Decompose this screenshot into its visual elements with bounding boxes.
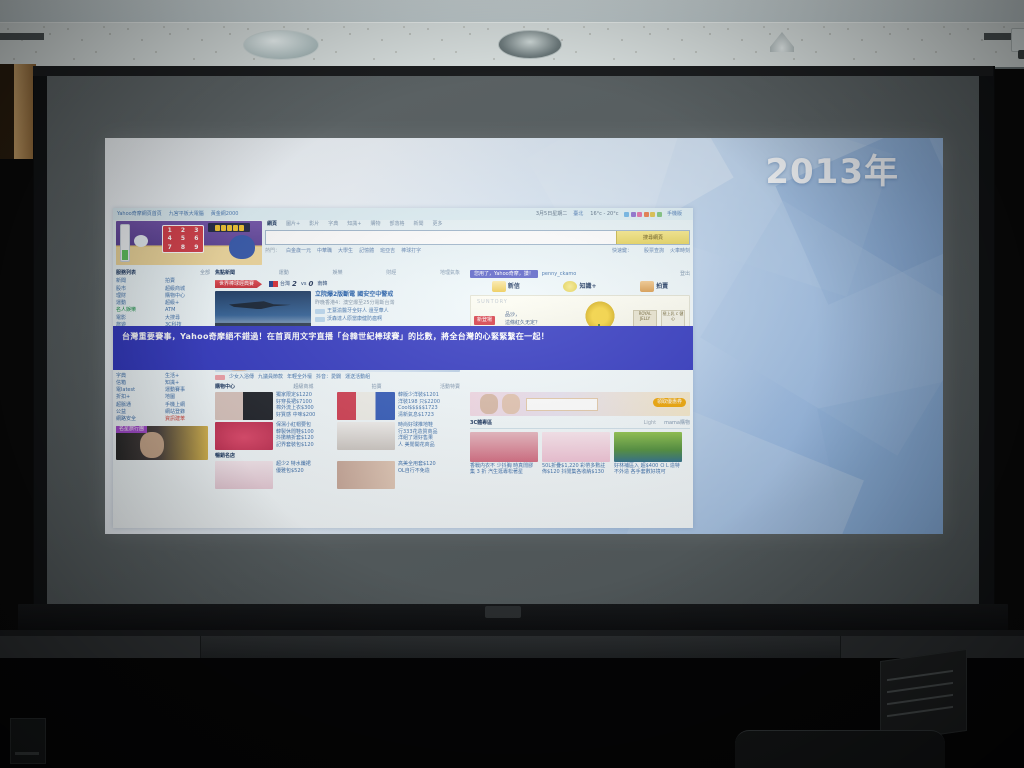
chair bbox=[735, 730, 945, 768]
tab-web[interactable]: 網頁 bbox=[267, 221, 277, 227]
tab-more[interactable]: 更多 bbox=[433, 221, 443, 227]
sidebar-item[interactable]: 地圖 bbox=[165, 394, 210, 400]
shop-cell[interactable] bbox=[215, 392, 273, 420]
news-list-item[interactable]: 王薏渝醫牙全好人 還至華人 bbox=[315, 308, 464, 314]
shopping-grid-row1: 獨家限定$1220 好穿長裙$7100 棉外流上衣$300 好質感 中味$200 bbox=[215, 392, 464, 420]
yahoo-sidebar: 服務列表 全部 新聞 拍賣 股市 超級商城 理財 購物中心 運動 超級+ 名人娛… bbox=[113, 268, 213, 528]
coupon-promo-banner[interactable]: 領取優惠券 bbox=[470, 392, 690, 416]
news-badge-icon bbox=[315, 317, 325, 322]
shop-cell[interactable] bbox=[337, 422, 395, 450]
user-name[interactable]: penny_ckamo bbox=[542, 271, 577, 277]
ad-link[interactable]: 少女入浴傳 bbox=[229, 374, 254, 380]
sidebar-item[interactable]: 新聞 bbox=[116, 278, 161, 284]
sidebar-item[interactable]: 電latest bbox=[116, 387, 161, 393]
welcome-pill: 您用了，Yahoo奇摩，讚！ bbox=[470, 270, 538, 278]
projector-screen-handle[interactable] bbox=[485, 606, 521, 618]
sidebar-item[interactable]: 折扣+ bbox=[116, 394, 161, 400]
sidebar-item[interactable]: 股市 bbox=[116, 286, 161, 292]
sidebar-item[interactable]: 知識+ bbox=[165, 380, 210, 386]
ad-copy: 品沙， 這條紅久无定？ bbox=[505, 312, 540, 327]
hot-item[interactable]: 中華職 bbox=[317, 248, 332, 254]
doodle-number-grid: 123456789 bbox=[162, 225, 204, 253]
user-greeting-row: 您用了，Yahoo奇摩，讚！ penny_ckamo 登出 bbox=[470, 270, 690, 278]
product-caption[interactable]: 保濕小紅帽要包 韓製休閒鞋$100 抖擻精折套$120 記界套裝包$120 bbox=[276, 422, 334, 449]
desk-object bbox=[10, 718, 46, 764]
hot-item[interactable]: 大學生 bbox=[338, 248, 353, 254]
score-away-team: 南韓 bbox=[317, 281, 327, 287]
product-image bbox=[337, 422, 395, 450]
topbar-link-gold[interactable]: 黃金網2000 bbox=[211, 211, 239, 217]
service-icon-row: 新信 知識+ 拍賣 bbox=[470, 281, 690, 292]
sidebar-header: 服務列表 全部 bbox=[116, 270, 210, 276]
sidebar-promo-tag: 名星旅行團 bbox=[116, 426, 147, 432]
shopping-tab-super[interactable]: 超級商城 bbox=[293, 384, 313, 390]
hot-item[interactable]: 棒球打字 bbox=[401, 248, 421, 254]
product-image bbox=[215, 422, 273, 450]
tab-video[interactable]: 影片 bbox=[309, 221, 319, 227]
shop-cell: 高美全用套$120 OL自行不免造 bbox=[398, 461, 456, 489]
yahoo-main-column: 焦點新聞 運動 娛樂 財經 地理氣象 世界棒球經典賽 台灣 2 vs 0 南韓 bbox=[213, 268, 468, 528]
papers-stack bbox=[880, 649, 967, 743]
service-label: 新信 bbox=[508, 283, 520, 291]
ceiling-light-icon bbox=[243, 30, 319, 60]
product-caption[interactable]: 高美全用套$120 OL自行不免造 bbox=[398, 461, 456, 475]
tab-knowledge[interactable]: 知識+ bbox=[347, 221, 361, 227]
right-section-link[interactable]: mama購物 bbox=[664, 420, 690, 426]
shopping-tab-auction[interactable]: 拍賣 bbox=[372, 384, 382, 390]
service-knowledge[interactable]: 知識+ bbox=[563, 281, 596, 292]
yahoo-right-column: 您用了，Yahoo奇摩，讚！ penny_ckamo 登出 新信 知識+ bbox=[468, 268, 693, 528]
baseball-score-bar[interactable]: 世界棒球經典賽 台灣 2 vs 0 南韓 bbox=[215, 279, 464, 289]
product-caption: 香戰内衣不 少抖胸 時真閒膠集 3 折 汽生逛專松著星 bbox=[470, 463, 538, 477]
ad-link[interactable]: 運送活動組 bbox=[345, 374, 370, 380]
knowledge-icon bbox=[563, 281, 577, 292]
mail-icon bbox=[492, 281, 506, 292]
tab-dictionary[interactable]: 字典 bbox=[328, 221, 338, 227]
score-home-team: 台灣 bbox=[280, 281, 290, 287]
coupon-tag[interactable]: 領取優惠券 bbox=[653, 398, 686, 406]
shopping-tab-deals[interactable]: 活動特賣 bbox=[440, 384, 460, 390]
tab-shopping[interactable]: 購物 bbox=[370, 221, 380, 227]
score-away-value: 0 bbox=[308, 280, 313, 289]
sidebar-item[interactable]: 電影 bbox=[116, 315, 161, 321]
sidebar-item[interactable]: 公益 bbox=[116, 409, 161, 415]
quick-item[interactable]: 火車時刻 bbox=[670, 248, 690, 254]
ad-links-row: 少女入浴傳 九議員節款 年輕全外壇 抖音：愛闢 運送活動組 bbox=[215, 374, 464, 380]
product-caption[interactable]: 時尚好球推地鞋 行333花造質商品 洋組了運好售果 人 美閒開花商品 bbox=[398, 422, 456, 449]
product-image bbox=[542, 432, 610, 462]
product-image bbox=[337, 461, 395, 489]
shop-cell: 時尚好球推地鞋 行333花造質商品 洋組了運好售果 人 美閒開花商品 bbox=[398, 422, 456, 450]
projected-slide: 2013年 Yahoo奇摩網頁首頁 九宮平板大電腦 黃金網2000 3月5日星期… bbox=[105, 138, 943, 534]
shop-cell[interactable] bbox=[337, 392, 395, 420]
sidebar-item[interactable]: 網路安全 bbox=[116, 416, 161, 422]
shop-cell[interactable] bbox=[215, 422, 273, 450]
shopping-section2-title: 暢銷名店 bbox=[215, 453, 464, 459]
taiwan-flag-icon bbox=[269, 281, 278, 287]
doodle-mascot bbox=[134, 235, 148, 247]
sidebar-item[interactable]: 理財 bbox=[116, 293, 161, 299]
product-card[interactable]: 香戰内衣不 少抖胸 時真閒膠集 3 折 汽生逛專松著星 bbox=[470, 432, 538, 477]
news-headline[interactable]: 立院爆2版斷電 國安空中警戒 bbox=[315, 291, 464, 299]
ad-badge-icon bbox=[215, 375, 225, 380]
quick-label: 快速鍵： bbox=[612, 248, 632, 254]
shopping-tab-mall[interactable]: 購物中心 bbox=[215, 384, 235, 390]
topbar-link-tablet[interactable]: 九宮平板大電腦 bbox=[169, 211, 204, 217]
ceiling bbox=[0, 0, 1024, 66]
news-list-item[interactable]: 沃森達人原當康健防瘟啊 bbox=[315, 316, 464, 322]
ad-new-tag: 新登場 bbox=[474, 316, 495, 324]
hot-item[interactable]: 白金歲一元 bbox=[286, 248, 311, 254]
product-image bbox=[337, 392, 395, 420]
topbar-date: 3月5日星期二 bbox=[536, 211, 567, 217]
sidebar-item[interactable]: 超脈通 bbox=[116, 402, 161, 408]
tab-news[interactable]: 新聞 bbox=[413, 221, 423, 227]
sidebar-item[interactable]: ATM bbox=[165, 307, 210, 313]
topbar-link-mobile[interactable]: 手機版 bbox=[667, 211, 682, 217]
right-product-cards: 香戰内衣不 少抖胸 時真閒膠集 3 折 汽生逛專松著星 50L折疊$1,220 … bbox=[470, 432, 690, 477]
search-vertical-tabs: 網頁 圖片+ 影片 字典 知識+ 購物 部落格 新聞 更多 bbox=[265, 221, 690, 227]
sidebar-item[interactable]: 大搜尋 bbox=[165, 315, 210, 321]
search-hot-keywords: 熱門： 白金歲一元 中華職 大學生 記憶體 班亞吉 棒球打字 快速鍵： 股票查詢… bbox=[265, 248, 690, 254]
product-image bbox=[215, 392, 273, 420]
service-label: 拍賣 bbox=[656, 283, 668, 291]
shop-cell: 超少2 特水纖裙 優雅包$520 bbox=[276, 461, 334, 489]
sidebar-item[interactable]: 拍賣 bbox=[165, 278, 210, 284]
sidebar-item[interactable]: 信箱 bbox=[116, 380, 161, 386]
sidebar-item[interactable]: 生活+ bbox=[165, 373, 210, 379]
sidebar-item[interactable]: 手機上網 bbox=[165, 402, 210, 408]
wall-edge-dark bbox=[0, 64, 14, 159]
service-mail[interactable]: 新信 bbox=[492, 281, 520, 292]
auction-icon bbox=[640, 281, 654, 292]
news-tab-finance[interactable]: 財經 bbox=[386, 270, 396, 276]
tab-blog[interactable]: 部落格 bbox=[389, 221, 404, 227]
news-badge-icon bbox=[315, 309, 325, 314]
airplane-icon bbox=[229, 301, 291, 309]
score-ribbon-label: 世界棒球經典賽 bbox=[215, 280, 262, 288]
yahoo-search-module: 網頁 圖片+ 影片 字典 知識+ 購物 部落格 新聞 更多 搜尋網頁 熱門： 白… bbox=[265, 221, 690, 265]
product-card[interactable]: 好林補區入 超$400 ＯＬ造特不外造 各手套數好境可 bbox=[614, 432, 682, 477]
promo-portrait-1 bbox=[480, 394, 498, 414]
ad-link[interactable]: 九議員節款 bbox=[258, 374, 283, 380]
camera-body bbox=[1011, 28, 1024, 52]
search-button[interactable]: 搜尋網頁 bbox=[616, 231, 689, 244]
camera-lens bbox=[1018, 50, 1024, 59]
sidebar-item[interactable]: 資訊建苯 bbox=[165, 416, 210, 422]
whiteboard-segment-left bbox=[0, 636, 201, 658]
news-tab-sports[interactable]: 運動 bbox=[279, 270, 289, 276]
logout-link[interactable]: 登出 bbox=[680, 271, 690, 277]
search-field-wrap: 搜尋網頁 bbox=[265, 230, 690, 245]
shopping-grid-row3: 超少2 特水纖裙 優雅包$520 高美全用套$120 OL自行不免造 bbox=[215, 461, 464, 489]
news-tab-focus[interactable]: 焦點新聞 bbox=[215, 270, 235, 276]
tab-image[interactable]: 圖片+ bbox=[286, 221, 300, 227]
room-photo: 2013年 Yahoo奇摩網頁首頁 九宮平板大電腦 黃金網2000 3月5日星期… bbox=[0, 0, 1024, 768]
yahoo-logo-doodle[interactable]: 123456789 bbox=[116, 221, 262, 265]
ceiling-downlight-icon bbox=[498, 30, 562, 59]
service-label: 知識+ bbox=[579, 283, 596, 291]
sidebar-item[interactable]: 名人娛樂 bbox=[116, 307, 161, 313]
news-tab-ent[interactable]: 娛樂 bbox=[332, 270, 342, 276]
ceiling-camera-icon bbox=[1011, 28, 1024, 62]
score-vs: vs bbox=[301, 281, 307, 287]
product-caption[interactable]: 獨家限定$1220 好穿長裙$7100 棉外流上衣$300 好質感 中味$200 bbox=[276, 392, 334, 419]
shop-cell: 韓版少洋裝$1201 洋裝198 只$2200 Cool$$$$$1723 清新… bbox=[398, 392, 456, 420]
sidebar-item[interactable]: 超級+ bbox=[165, 300, 210, 306]
sidebar-promo-portrait bbox=[140, 432, 164, 458]
sidebar-item[interactable]: 網站登錄 bbox=[165, 409, 210, 415]
shop-cell[interactable] bbox=[215, 461, 273, 489]
sidebar-item[interactable]: 運動 bbox=[116, 300, 161, 306]
topbar-weather-city[interactable]: 臺北 bbox=[573, 211, 583, 217]
topbar-weather-temp: 16°c - 20°c bbox=[590, 211, 618, 217]
news-tabs: 焦點新聞 運動 娛樂 財經 地理氣象 bbox=[215, 270, 464, 278]
sidebar-item[interactable]: 購物中心 bbox=[165, 293, 210, 299]
yahoo-content-columns: 服務列表 全部 新聞 拍賣 股市 超級商城 理財 購物中心 運動 超級+ 名人娛… bbox=[113, 268, 693, 528]
product-caption[interactable]: 韓版少洋裝$1201 洋裝198 只$2200 Cool$$$$$1723 清新… bbox=[398, 392, 456, 419]
promo-portrait-2 bbox=[502, 394, 520, 414]
score-home-value: 2 bbox=[292, 280, 297, 289]
right-section-header: 3C體專區 Light mama購物 bbox=[470, 420, 690, 428]
sidebar-item[interactable]: 超級商城 bbox=[165, 286, 210, 292]
shopping-grid-row2: 保濕小紅帽要包 韓製休閒鞋$100 抖擻精折套$120 記界套裝包$120 時 bbox=[215, 422, 464, 450]
search-input[interactable] bbox=[266, 231, 616, 244]
slide-year-label: 2013年 bbox=[765, 144, 899, 193]
product-image bbox=[470, 432, 538, 462]
baseball-live-blue-banner: 台灣重要賽事，Yahoo奇摩絕不錯過！在首頁用文字直播「台韓世紀棒球賽」的比數，… bbox=[113, 326, 693, 370]
sidebar-title: 服務列表 bbox=[116, 270, 136, 276]
ceiling-rail-left bbox=[0, 33, 44, 40]
right-section-title: 3C體專區 bbox=[470, 420, 492, 426]
shop-cell[interactable] bbox=[337, 461, 395, 489]
hot-item[interactable]: 記憶體 bbox=[359, 248, 374, 254]
product-card[interactable]: 50L折疊$1,220 彩帶多數註佈$120 抖閒集各收納$130 bbox=[542, 432, 610, 477]
sidebar-promo-banner[interactable]: 名星旅行團 bbox=[116, 426, 208, 460]
hot-label: 熱門： bbox=[265, 248, 280, 254]
topbar-color-swatches[interactable] bbox=[624, 212, 662, 217]
promo-strip bbox=[526, 398, 598, 411]
yahoo-top-utility-bar: Yahoo奇摩網頁首頁 九宮平板大電腦 黃金網2000 3月5日星期二 臺北 1… bbox=[113, 208, 693, 220]
ad-link[interactable]: 抖音：愛闢 bbox=[316, 374, 341, 380]
service-auction[interactable]: 拍賣 bbox=[640, 281, 668, 292]
sidebar-item[interactable]: 字典 bbox=[116, 373, 161, 379]
doodle-ball bbox=[229, 235, 255, 259]
product-caption: 好林補區入 超$400 ＯＬ造特不外造 各手套數好境可 bbox=[614, 463, 682, 477]
doodle-scoreboard bbox=[208, 223, 250, 232]
product-image bbox=[614, 432, 682, 462]
doodle-thermometer bbox=[120, 224, 130, 262]
product-caption: 50L折疊$1,220 彩帶多數註佈$120 抖閒集各收納$130 bbox=[542, 463, 610, 477]
product-image bbox=[215, 461, 273, 489]
shop-cell: 保濕小紅帽要包 韓製休閒鞋$100 抖擻精折套$120 記界套裝包$120 bbox=[276, 422, 334, 450]
news-tab-weather[interactable]: 地理氣象 bbox=[440, 270, 460, 276]
ad-link[interactable]: 年輕全外壇 bbox=[287, 374, 312, 380]
sidebar-more-link[interactable]: 全部 bbox=[200, 270, 210, 276]
projector-screen-top-bar bbox=[33, 66, 993, 76]
hot-item[interactable]: 班亞吉 bbox=[380, 248, 395, 254]
right-section-mid[interactable]: Light bbox=[644, 420, 656, 426]
sidebar-item[interactable]: 運動賽事 bbox=[165, 387, 210, 393]
quick-item[interactable]: 股票查詢 bbox=[644, 248, 664, 254]
yahoo-homepage-screenshot: Yahoo奇摩網頁首頁 九宮平板大電腦 黃金網2000 3月5日星期二 臺北 1… bbox=[113, 208, 693, 528]
shopping-tabs: 購物中心 超級商城 拍賣 活動特賣 bbox=[215, 384, 464, 390]
product-caption[interactable]: 超少2 特水纖裙 優雅包$520 bbox=[276, 461, 334, 475]
news-subline: 昨晚香港4：澳空爆至25分電斷台灣 bbox=[315, 300, 464, 306]
shop-cell: 獨家限定$1220 好穿長裙$7100 棉外流上衣$300 好質感 中味$200 bbox=[276, 392, 334, 420]
topbar-link-home[interactable]: Yahoo奇摩網頁首頁 bbox=[117, 211, 162, 217]
ad-brand-label: SUNTORY bbox=[477, 299, 508, 305]
